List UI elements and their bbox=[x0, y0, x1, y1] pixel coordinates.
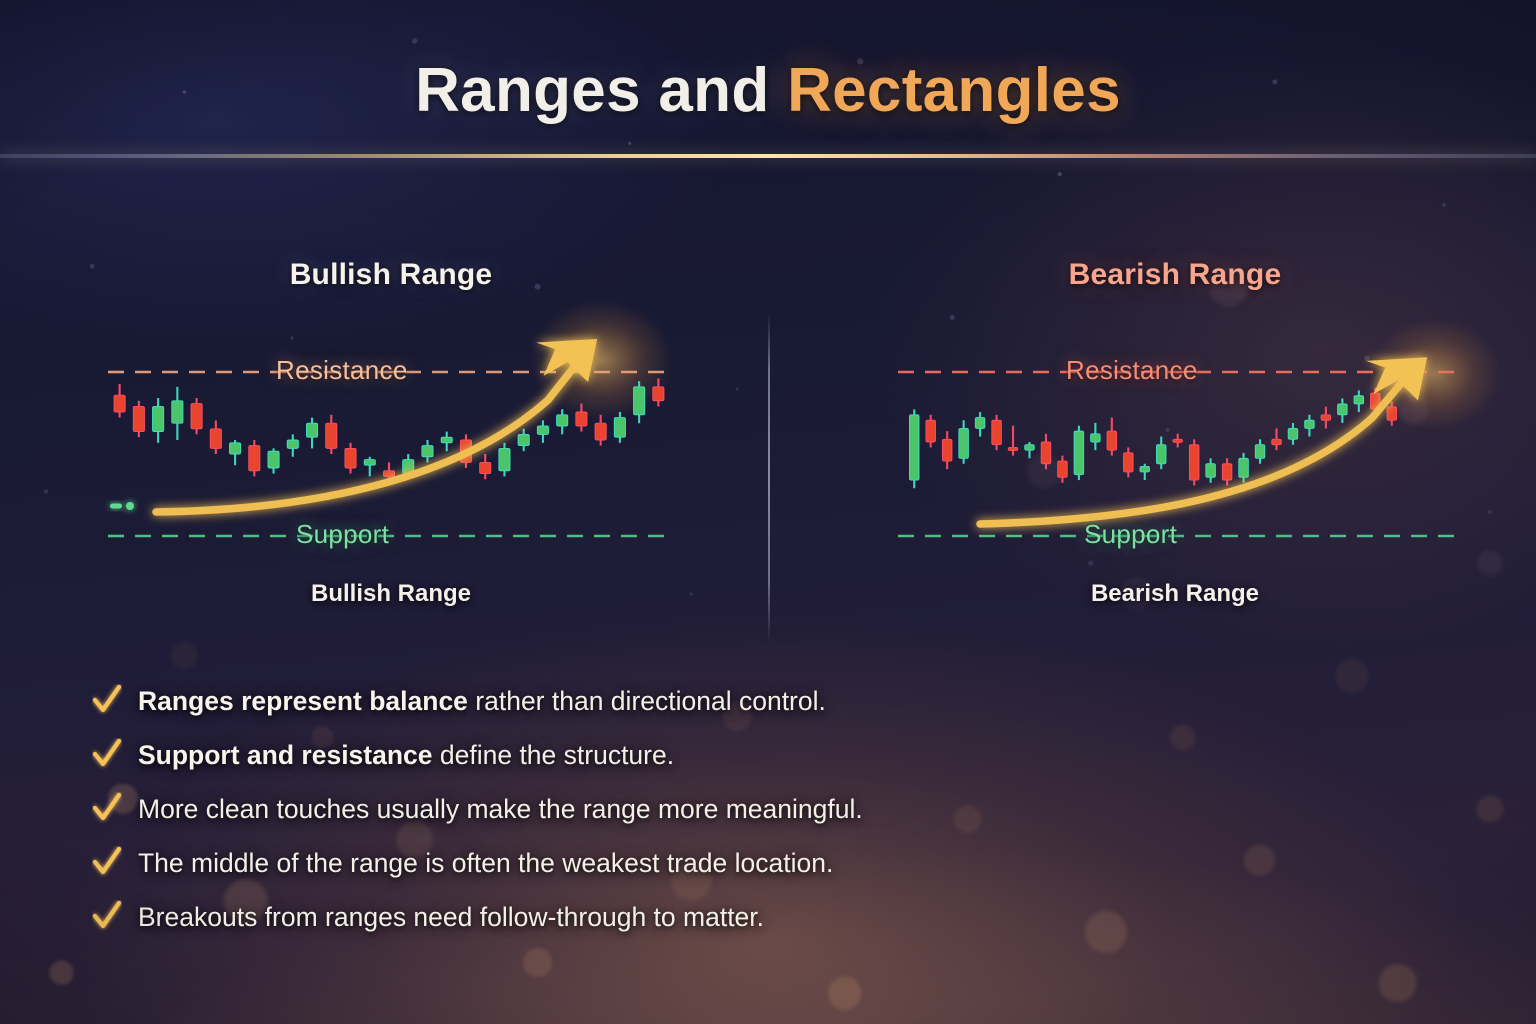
candle-body bbox=[287, 440, 298, 448]
bullish-range-heading: Bullish Range bbox=[96, 258, 686, 292]
check-icon bbox=[92, 846, 122, 878]
candle-body bbox=[1091, 434, 1101, 442]
list-item: Ranges represent balance rather than dir… bbox=[92, 686, 1172, 722]
candle-body bbox=[614, 418, 625, 438]
candle-body bbox=[210, 429, 221, 449]
candle-body bbox=[268, 451, 279, 468]
key-points-list: Ranges represent balance rather than dir… bbox=[92, 686, 1172, 956]
list-item: Breakouts from ranges need follow-throug… bbox=[92, 902, 1172, 938]
candle-body bbox=[1156, 445, 1166, 464]
candle-body bbox=[634, 387, 645, 415]
candle-body bbox=[326, 423, 337, 448]
candle-body bbox=[1173, 439, 1183, 442]
candle-body bbox=[1058, 461, 1068, 477]
candle-body bbox=[1255, 445, 1265, 459]
candle-body bbox=[926, 420, 936, 442]
candle-body bbox=[1354, 396, 1364, 404]
list-item-text: More clean touches usually make the rang… bbox=[138, 794, 863, 825]
candle-body bbox=[1140, 466, 1150, 471]
candle-body bbox=[1008, 447, 1018, 450]
page-title: Ranges and Rectangles bbox=[0, 58, 1536, 123]
title-part-white: Ranges and bbox=[415, 56, 787, 125]
list-item: More clean touches usually make the rang… bbox=[92, 794, 1172, 830]
list-item-text: Breakouts from ranges need follow-throug… bbox=[138, 902, 764, 933]
title-part-orange: Rectangles bbox=[787, 56, 1121, 125]
list-item-text: Support and resistance define the struct… bbox=[138, 740, 674, 771]
resistance-label-bullish: Resistance bbox=[276, 355, 408, 386]
candle-body bbox=[383, 471, 394, 477]
candle-body bbox=[229, 443, 240, 454]
panel-bullish-range: Bullish Range bbox=[96, 258, 686, 638]
candle-body bbox=[1107, 431, 1117, 450]
check-icon bbox=[92, 900, 122, 932]
header-divider-rule bbox=[0, 154, 1536, 158]
candle-body bbox=[576, 412, 587, 426]
candle-body bbox=[1239, 458, 1249, 477]
candle-body bbox=[959, 428, 969, 458]
up-right-arrow-icon bbox=[980, 349, 1427, 524]
candle-body bbox=[975, 418, 985, 429]
support-label-bearish: Support bbox=[1084, 519, 1177, 550]
candle-body bbox=[153, 406, 164, 431]
bullish-range-chart: Resistance Support bbox=[96, 314, 686, 564]
candle-series bbox=[909, 388, 1396, 489]
bullish-range-caption: Bullish Range bbox=[96, 580, 686, 608]
candle-body bbox=[133, 406, 144, 431]
candle-body bbox=[1025, 445, 1035, 450]
candle-body bbox=[557, 415, 568, 426]
candle-body bbox=[441, 437, 452, 443]
candle-body bbox=[345, 448, 356, 468]
candle-body bbox=[518, 434, 529, 445]
check-icon bbox=[92, 792, 122, 824]
list-item-text: Ranges represent balance rather than dir… bbox=[138, 686, 826, 717]
slide-root: Ranges and Rectangles Bullish Range bbox=[0, 0, 1536, 1024]
candle-body bbox=[1288, 428, 1298, 439]
candle-body bbox=[422, 446, 433, 457]
candle-body bbox=[1074, 431, 1084, 475]
candle-body bbox=[595, 423, 606, 440]
candle-body bbox=[1124, 453, 1134, 472]
check-icon bbox=[92, 684, 122, 716]
candle-body bbox=[1305, 420, 1315, 428]
candle-body bbox=[1222, 464, 1232, 480]
bearish-range-heading: Bearish Range bbox=[880, 258, 1470, 292]
candle-body bbox=[480, 462, 491, 473]
candle-body bbox=[249, 446, 260, 471]
bearish-range-caption: Bearish Range bbox=[880, 580, 1470, 608]
candle-body bbox=[1041, 442, 1051, 464]
candle-body bbox=[653, 387, 664, 401]
candle-body bbox=[1189, 445, 1199, 480]
bearish-range-chart: Resistance Support bbox=[880, 314, 1470, 564]
list-item: The middle of the range is often the wea… bbox=[92, 848, 1172, 884]
candle-body bbox=[1321, 415, 1331, 420]
candle-body bbox=[942, 439, 952, 461]
candle-body bbox=[499, 448, 510, 470]
check-icon bbox=[92, 738, 122, 770]
candle-body bbox=[537, 426, 548, 434]
support-label-bullish: Support bbox=[296, 519, 389, 550]
candle-body bbox=[909, 415, 919, 480]
candle-body bbox=[306, 423, 317, 437]
candle-body bbox=[364, 460, 375, 466]
resistance-label-bearish: Resistance bbox=[1066, 355, 1198, 386]
candle-body bbox=[992, 420, 1002, 444]
list-item: Support and resistance define the struct… bbox=[92, 740, 1172, 776]
candle-body bbox=[1272, 439, 1282, 444]
panel-divider bbox=[768, 312, 770, 642]
panel-bearish-range: Bearish Range bbox=[880, 258, 1470, 638]
list-item-text: The middle of the range is often the wea… bbox=[138, 848, 833, 879]
candle-body bbox=[1206, 464, 1216, 478]
